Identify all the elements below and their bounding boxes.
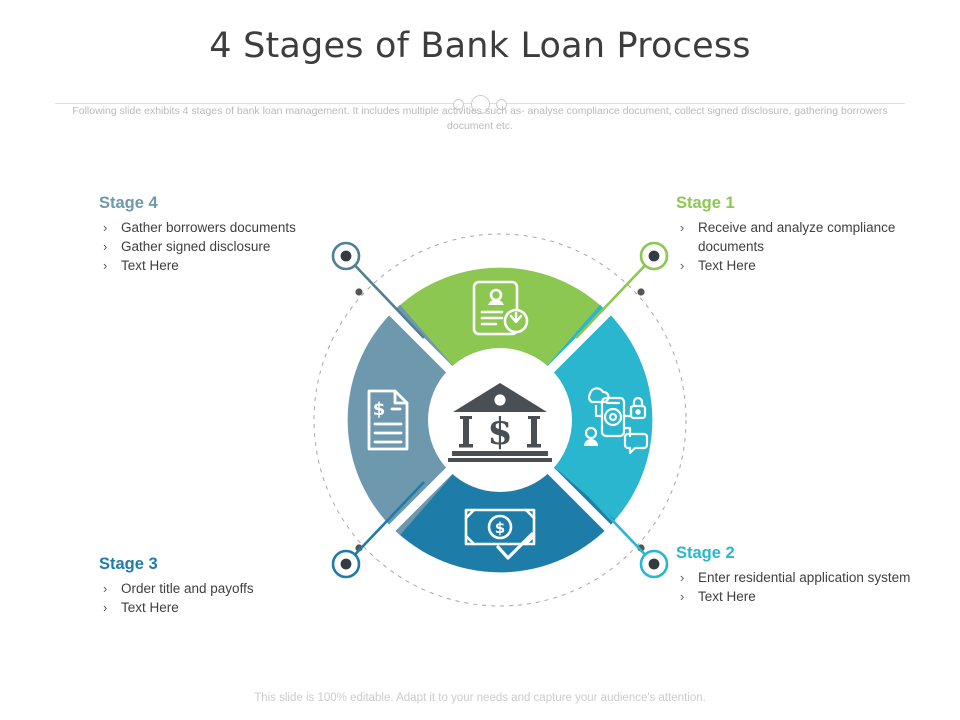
- page-title: 4 Stages of Bank Loan Process: [0, 26, 960, 66]
- list-item: ›Enter residential application system: [676, 568, 911, 587]
- process-wheel: $: [300, 220, 700, 620]
- stage-3-block: Stage 3 ›Order title and payoffs ›Text H…: [99, 555, 354, 617]
- stage-4-heading: Stage 4: [99, 194, 354, 213]
- stage-1-list: ›Receive and analyze compliance document…: [676, 218, 911, 275]
- list-item-label: Text Here: [121, 258, 179, 273]
- list-item-label: Text Here: [698, 258, 756, 273]
- ring-dot-top-right: [637, 288, 644, 295]
- list-item-label: Order title and payoffs: [121, 581, 254, 596]
- list-item-label: Gather borrowers documents: [121, 220, 296, 235]
- chevron-right-icon: ›: [103, 256, 107, 275]
- list-item: ›Receive and analyze compliance document…: [676, 218, 911, 256]
- stage-3-list: ›Order title and payoffs ›Text Here: [99, 579, 354, 617]
- stage-1-heading: Stage 1: [676, 194, 911, 213]
- chevron-right-icon: ›: [680, 218, 684, 237]
- list-item-label: Enter residential application system: [698, 570, 910, 585]
- chevron-right-icon: ›: [103, 237, 107, 256]
- svg-text:$: $: [495, 519, 505, 537]
- slide-subtitle: Following slide exhibits 4 stages of ban…: [60, 104, 900, 134]
- chevron-right-icon: ›: [103, 579, 107, 598]
- list-item: ›Text Here: [676, 256, 911, 275]
- stage-4-block: Stage 4 ›Gather borrowers documents ›Gat…: [99, 194, 354, 275]
- stage-2-heading: Stage 2: [676, 544, 911, 563]
- list-item: ›Text Here: [99, 256, 354, 275]
- list-item: ›Gather signed disclosure: [99, 237, 354, 256]
- chevron-right-icon: ›: [680, 587, 684, 606]
- list-item: ›Gather borrowers documents: [99, 218, 354, 237]
- svg-text:$: $: [487, 411, 512, 453]
- connector-stage-1: [576, 243, 667, 338]
- chevron-right-icon: ›: [680, 568, 684, 587]
- list-item-label: Gather signed disclosure: [121, 239, 270, 254]
- stage-2-list: ›Enter residential application system ›T…: [676, 568, 911, 606]
- chevron-right-icon: ›: [103, 598, 107, 617]
- list-item-label: Text Here: [121, 600, 179, 615]
- stage-3-heading: Stage 3: [99, 555, 354, 574]
- stage-1-block: Stage 1 ›Receive and analyze compliance …: [676, 194, 911, 275]
- list-item-label: Text Here: [698, 589, 756, 604]
- slide-canvas: 4 Stages of Bank Loan Process Following …: [0, 0, 960, 720]
- ring-dot-top-left: [355, 288, 362, 295]
- list-item: ›Text Here: [99, 598, 354, 617]
- stage-2-block: Stage 2 ›Enter residential application s…: [676, 544, 911, 606]
- list-item: ›Text Here: [676, 587, 911, 606]
- slide-footer-note: This slide is 100% editable. Adapt it to…: [0, 692, 960, 704]
- list-item-label: Receive and analyze compliance documents: [698, 220, 895, 254]
- list-item: ›Order title and payoffs: [99, 579, 354, 598]
- chevron-right-icon: ›: [680, 256, 684, 275]
- stage-4-list: ›Gather borrowers documents ›Gather sign…: [99, 218, 354, 275]
- svg-text:$: $: [373, 399, 386, 420]
- chevron-right-icon: ›: [103, 218, 107, 237]
